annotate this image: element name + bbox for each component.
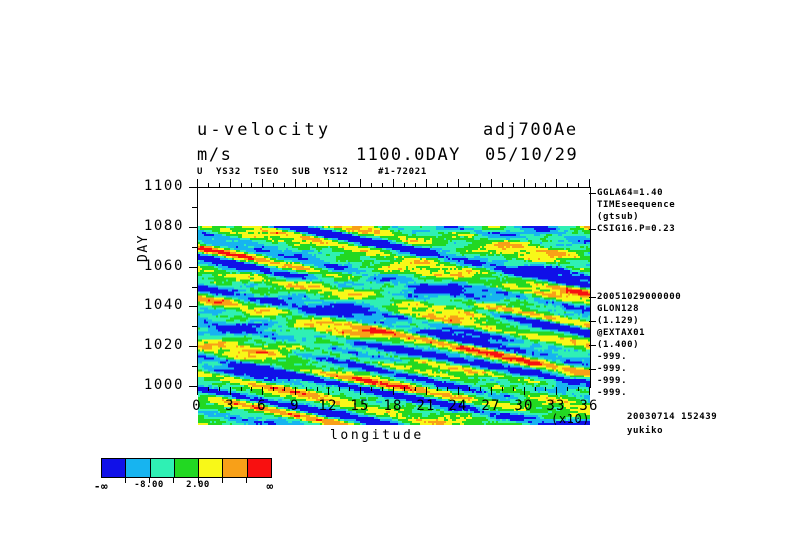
- y-axis-minor-tick: [192, 326, 197, 327]
- x-axis-minor-tick: [567, 387, 568, 391]
- x-axis-minor-tick-top: [208, 183, 209, 187]
- x-axis-tick: [197, 387, 198, 395]
- x-axis-minor-tick: [317, 387, 318, 391]
- right-margin-tick: [589, 229, 596, 230]
- chart-day-label: 1100.0DAY: [356, 145, 461, 165]
- footer-timestamp: 20030714 152439: [627, 412, 717, 422]
- right-margin-tick: [589, 321, 596, 322]
- x-axis-minor-tick-top: [349, 183, 350, 187]
- x-axis-minor-tick-top: [306, 183, 307, 187]
- colorbar-tick: [222, 478, 223, 483]
- heatmap-canvas: [198, 226, 590, 425]
- y-axis-tick: [189, 346, 197, 347]
- y-axis-label: 1100: [120, 178, 184, 194]
- y-axis-label: 1020: [120, 337, 184, 353]
- y-axis-minor-tick: [192, 366, 197, 367]
- right-annotation-line: -999.: [597, 352, 627, 362]
- x-axis-minor-tick-top: [502, 183, 503, 187]
- right-margin-tick: [589, 297, 596, 298]
- y-axis-minor-tick: [192, 287, 197, 288]
- x-axis-tick-top: [230, 179, 231, 187]
- x-axis-tick-top: [360, 179, 361, 187]
- y-axis-label: 1060: [120, 258, 184, 274]
- x-axis-minor-tick: [535, 387, 536, 391]
- x-axis-tick: [491, 387, 492, 395]
- heatmap-plot-area: [197, 187, 591, 388]
- x-axis-tick-top: [556, 179, 557, 187]
- x-axis-minor-tick: [480, 387, 481, 391]
- x-axis-minor-tick: [306, 387, 307, 391]
- chart-units-label: m/s: [197, 145, 233, 165]
- x-axis-minor-tick: [578, 387, 579, 391]
- x-axis-tick-top: [458, 179, 459, 187]
- x-axis-tick: [262, 387, 263, 395]
- colorbar-band-2: [150, 459, 174, 477]
- x-axis-minor-tick-top: [469, 183, 470, 187]
- right-annotation-line: (1.400): [597, 340, 639, 350]
- x-axis-tick: [230, 387, 231, 395]
- x-axis-tick: [556, 387, 557, 395]
- x-axis-minor-tick: [371, 387, 372, 391]
- x-axis-minor-tick: [208, 387, 209, 391]
- x-axis-minor-tick: [502, 387, 503, 391]
- footer-user: yukiko: [627, 426, 663, 436]
- x-axis-minor-tick-top: [415, 183, 416, 187]
- y-axis-label: 1040: [120, 297, 184, 313]
- x-axis-minor-tick: [513, 387, 514, 391]
- x-axis-minor-tick: [349, 387, 350, 391]
- x-axis-minor-tick-top: [480, 183, 481, 187]
- y-axis-minor-tick: [192, 247, 197, 248]
- x-axis-tick-top: [589, 179, 590, 187]
- x-axis-minor-tick: [241, 387, 242, 391]
- right-margin-tick: [589, 369, 596, 370]
- x-axis-tick: [328, 387, 329, 395]
- x-axis-minor-tick: [404, 387, 405, 391]
- x-axis-tick-top: [393, 179, 394, 187]
- x-axis-minor-tick-top: [251, 183, 252, 187]
- colorbar-band-6: [247, 459, 271, 477]
- y-axis-minor-tick: [192, 207, 197, 208]
- y-axis-tick: [189, 386, 197, 387]
- x-axis-minor-tick-top: [339, 183, 340, 187]
- x-axis-tick: [295, 387, 296, 395]
- x-axis-title: longitude: [330, 428, 424, 443]
- x-axis-minor-tick: [382, 387, 383, 391]
- right-annotation-line: GLON128: [597, 304, 639, 314]
- colorbar-band-5: [222, 459, 246, 477]
- x-axis-minor-tick: [273, 387, 274, 391]
- x-axis-minor-tick-top: [535, 183, 536, 187]
- colorbar: [101, 458, 272, 478]
- x-axis-minor-tick-top: [219, 183, 220, 187]
- x-axis-minor-tick-top: [567, 183, 568, 187]
- x-axis-tick-top: [295, 179, 296, 187]
- y-axis-label: 1000: [120, 377, 184, 393]
- x-axis-multiplier: (x10): [551, 412, 590, 426]
- right-margin-tick: [589, 345, 596, 346]
- right-annotation-line: (1.129): [597, 316, 639, 326]
- dataset-descriptor: U YS32 TSEO SUB YS12: [197, 167, 349, 177]
- x-axis-minor-tick: [469, 387, 470, 391]
- x-axis-tick-top: [426, 179, 427, 187]
- x-axis-minor-tick: [284, 387, 285, 391]
- colorbar-label: -∞: [78, 480, 124, 493]
- chart-title-variable: u-velocity: [197, 120, 331, 140]
- x-axis-minor-tick-top: [371, 183, 372, 187]
- right-annotation-line: -999.: [597, 388, 627, 398]
- x-axis-minor-tick-top: [404, 183, 405, 187]
- x-axis-minor-tick-top: [382, 183, 383, 187]
- right-annotation-line: 20051029000000: [597, 292, 681, 302]
- x-axis-minor-tick: [437, 387, 438, 391]
- colorbar-band-4: [198, 459, 222, 477]
- x-axis-tick-top: [524, 179, 525, 187]
- x-axis-minor-tick-top: [284, 183, 285, 187]
- x-axis-tick-top: [197, 179, 198, 187]
- right-annotation-line: GGLA64=1.40: [597, 188, 663, 198]
- x-axis-tick: [524, 387, 525, 395]
- x-axis-minor-tick-top: [447, 183, 448, 187]
- chart-title-case-id: adj700Ae: [483, 120, 578, 140]
- y-axis-tick: [189, 306, 197, 307]
- right-annotation-line: TIMEseequence: [597, 200, 675, 210]
- x-axis-minor-tick: [545, 387, 546, 391]
- x-axis-minor-tick-top: [241, 183, 242, 187]
- x-axis-minor-tick: [415, 387, 416, 391]
- x-axis-minor-tick: [339, 387, 340, 391]
- x-axis-label: 36: [569, 398, 609, 414]
- x-axis-tick-top: [328, 179, 329, 187]
- colorbar-label: ∞: [247, 480, 293, 493]
- y-axis-tick: [189, 227, 197, 228]
- x-axis-tick: [360, 387, 361, 395]
- x-axis-tick: [458, 387, 459, 395]
- x-axis-tick-top: [262, 179, 263, 187]
- right-annotation-line: -999.: [597, 376, 627, 386]
- x-axis-tick: [589, 387, 590, 395]
- x-axis-minor-tick-top: [578, 183, 579, 187]
- record-id-label: #1-72021: [378, 167, 427, 177]
- x-axis-minor-tick: [447, 387, 448, 391]
- x-axis-minor-tick-top: [273, 183, 274, 187]
- y-axis-tick: [189, 187, 197, 188]
- chart-date-label: 05/10/29: [485, 145, 578, 165]
- right-annotation-line: (gtsub): [597, 212, 639, 222]
- x-axis-minor-tick: [219, 387, 220, 391]
- colorbar-tick: [173, 478, 174, 483]
- right-annotation-line: @EXTAX01: [597, 328, 645, 338]
- colorbar-bands: [101, 458, 272, 478]
- colorbar-band-0: [102, 459, 125, 477]
- colorbar-band-3: [174, 459, 198, 477]
- x-axis-tick: [393, 387, 394, 395]
- colorbar-band-1: [125, 459, 149, 477]
- x-axis-tick: [426, 387, 427, 395]
- right-annotation-line: -999.: [597, 364, 627, 374]
- right-annotation-line: CSIG16.P=0.23: [597, 224, 675, 234]
- y-axis-label: 1080: [120, 218, 184, 234]
- x-axis-minor-tick-top: [317, 183, 318, 187]
- x-axis-minor-tick-top: [437, 183, 438, 187]
- colorbar-label: -8.00: [126, 480, 172, 490]
- x-axis-minor-tick-top: [513, 183, 514, 187]
- colorbar-label: 2.00: [175, 480, 221, 490]
- x-axis-minor-tick: [251, 387, 252, 391]
- x-axis-tick-top: [491, 179, 492, 187]
- right-margin-tick: [589, 193, 596, 194]
- y-axis-tick: [189, 267, 197, 268]
- x-axis-minor-tick-top: [545, 183, 546, 187]
